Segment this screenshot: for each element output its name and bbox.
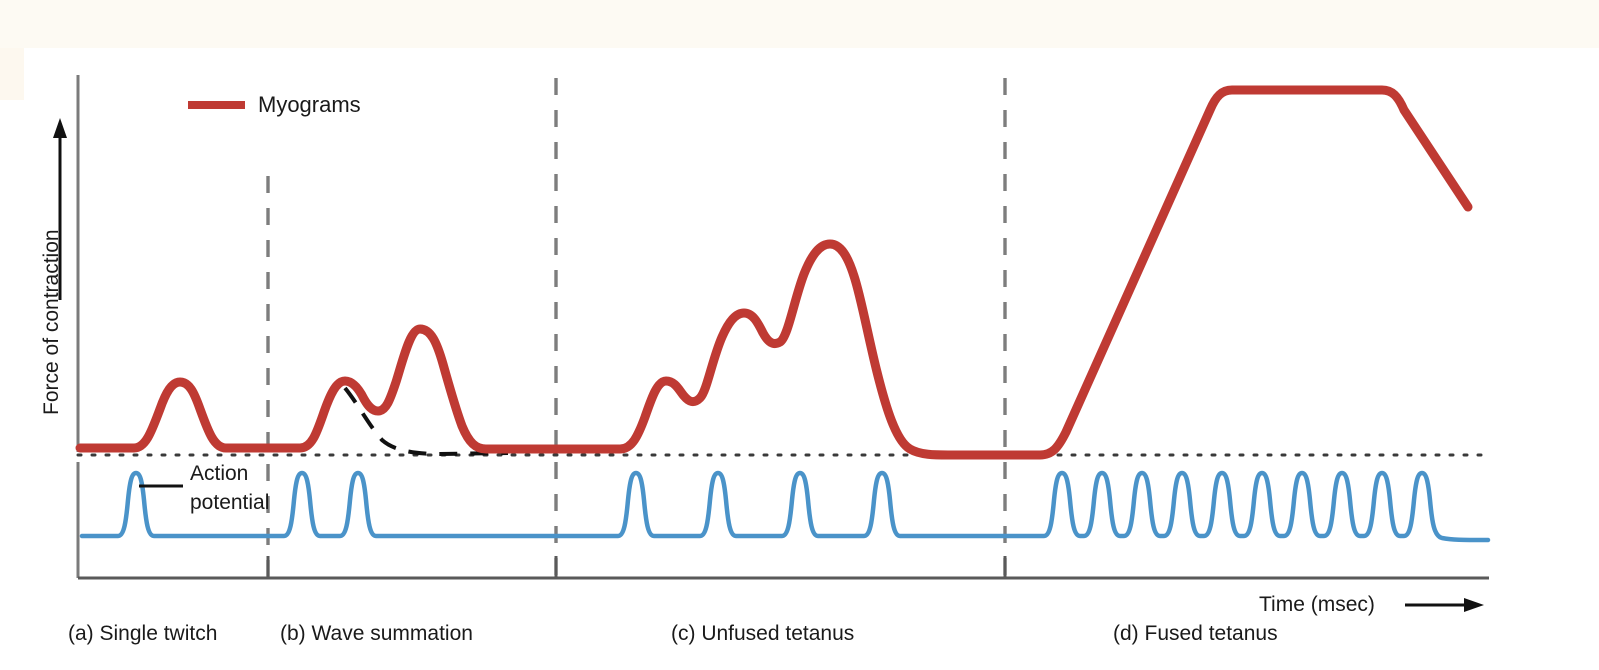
muscle-contraction-chart bbox=[0, 0, 1599, 670]
panel-label-d: (d) Fused tetanus bbox=[1113, 621, 1278, 647]
figure-root: Myograms Force of contraction Action pot… bbox=[0, 0, 1599, 670]
single-twitch-reference-dashed bbox=[345, 388, 508, 454]
action-potential-label-line1: Action bbox=[190, 461, 248, 487]
legend-label-myograms: Myograms bbox=[258, 92, 361, 118]
panel-label-c: (c) Unfused tetanus bbox=[671, 621, 854, 647]
action-potential-label-line2: potential bbox=[190, 490, 269, 516]
panel-label-b: (b) Wave summation bbox=[280, 621, 473, 647]
myogram-force-trace bbox=[80, 90, 1468, 455]
action-potential-trace bbox=[82, 473, 1488, 540]
x-axis-arrow-icon bbox=[1405, 598, 1484, 612]
panel-label-a: (a) Single twitch bbox=[68, 621, 217, 647]
y-axis-label: Force of contraction bbox=[40, 229, 64, 415]
x-axis-label: Time (msec) bbox=[1259, 592, 1375, 618]
